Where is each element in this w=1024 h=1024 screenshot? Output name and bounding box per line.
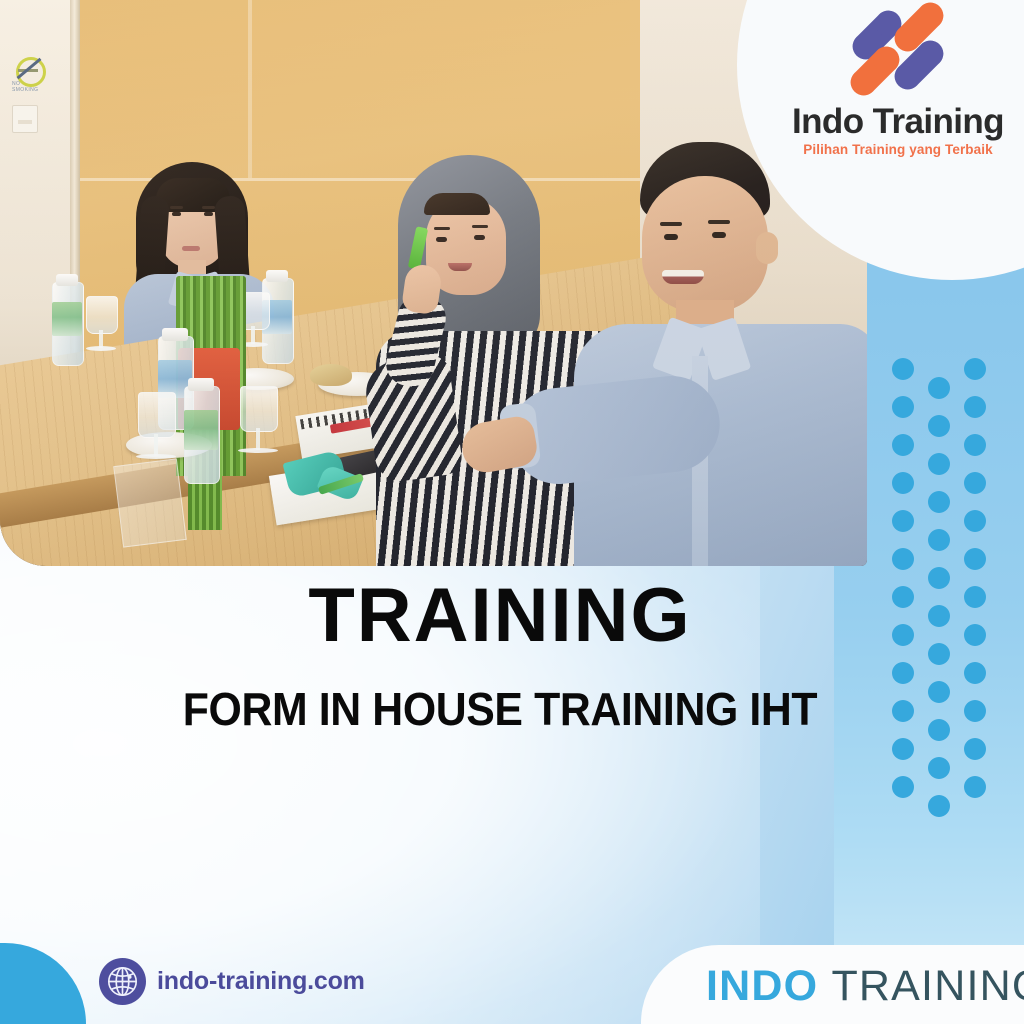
globe-icon [99,958,146,1005]
p2-hair [424,193,490,215]
glass-front-1 [138,392,176,438]
dot-shape [964,358,986,380]
dot-shape [892,472,914,494]
dot-shape [964,472,986,494]
wall-seam-vertical [248,0,252,178]
p2-eye-left [436,237,447,242]
dot-shape [892,738,914,760]
p3-eye-left [664,234,678,240]
dot-shape [928,491,950,513]
dot-shape [892,548,914,570]
dot-shape [964,510,986,532]
p2-eye-right [474,235,485,240]
page-title: TRAINING [0,578,1000,654]
dot-shape [964,434,986,456]
p2-brow-left [434,227,450,230]
p1-eye-left [172,212,181,216]
p3-brow-right [708,220,730,224]
poster-canvas: NO SMOKING [0,0,1024,1024]
glass-front-2 [240,386,278,432]
no-smoking-label: NO SMOKING [12,81,46,93]
footer-brand-indo: INDO [706,962,831,1010]
bottle-label-1 [52,302,82,336]
logo-tagline: Pilihan Training yang Terbaik [782,142,1014,157]
glass-foot-4 [238,448,278,453]
glass-stem-4 [256,428,260,450]
p3-eye-right [712,232,726,238]
bottle-cap-1 [56,274,78,286]
bottle-cap-3 [162,328,188,341]
bottle-cap-4 [188,378,214,391]
footer-brand-panel: INDO TRAINING [641,945,1024,1024]
bottle-cap-2 [266,270,288,282]
dot-shape [928,453,950,475]
no-smoking-sign: NO SMOKING [12,57,46,87]
p1-mouth [182,246,200,251]
dot-shape [928,757,950,779]
connected-nodes-icon [846,8,950,100]
p1-brow-right [202,206,215,209]
acrylic-card-stand [113,458,187,547]
dot-shape [892,358,914,380]
dot-shape [928,377,950,399]
p3-brow-left [660,222,682,226]
footer-brand-training: TRAINING [831,962,1024,1010]
p2-brow-right [472,225,488,228]
glass-back-1 [86,296,118,334]
dot-shape [892,510,914,532]
glass-foot-1 [86,346,116,351]
p3-ear [756,232,778,264]
page-subtitle: FORM IN HOUSE TRAINING IHT [35,686,965,732]
dot-shape [964,738,986,760]
dot-shape [892,776,914,798]
glass-stem-3 [154,434,158,456]
dot-shape [928,795,950,817]
food-item [310,364,352,386]
dot-shape [892,396,914,418]
dot-shape [964,548,986,570]
website-row[interactable]: indo-training.com [99,958,365,1005]
dot-shape [928,529,950,551]
dot-shape [928,415,950,437]
bottle-label-4 [184,410,218,450]
logo-wordmark: Indo Training [782,104,1014,140]
p1-brow-left [170,206,183,209]
wall-light-switch [12,105,38,133]
dot-shape [892,434,914,456]
website-url[interactable]: indo-training.com [157,967,365,996]
brand-logo: Indo Training Pilihan Training yang Terb… [782,8,1014,157]
footer-brand-lockup: INDO TRAINING [706,962,1024,1011]
p3-face [642,176,768,312]
dot-shape [964,776,986,798]
p1-eye-right [204,212,213,216]
headline-block: TRAINING FORM IN HOUSE TRAINING IHT [0,578,1000,732]
p3-mouth [662,270,704,284]
dot-shape [964,396,986,418]
